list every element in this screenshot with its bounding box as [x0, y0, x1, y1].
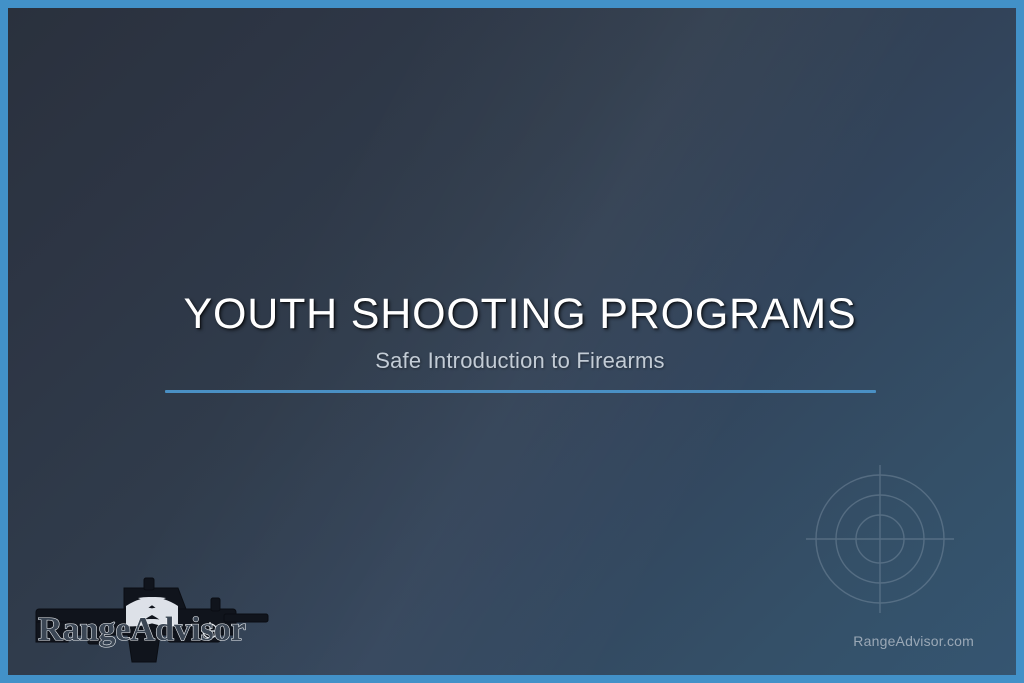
- page-subtitle: Safe Introduction to Firearms: [8, 348, 1024, 374]
- footer-url: RangeAdvisor.com: [853, 633, 974, 649]
- crosshair-target-icon: [800, 459, 960, 619]
- logo-text: RangeAdvisor: [38, 611, 246, 648]
- title-block: YOUTH SHOOTING PROGRAMS Safe Introductio…: [8, 291, 1024, 374]
- accent-divider: [165, 390, 876, 393]
- title-slide: YOUTH SHOOTING PROGRAMS Safe Introductio…: [0, 0, 1024, 683]
- logo[interactable]: RangeAdvisor: [28, 576, 273, 668]
- page-title: YOUTH SHOOTING PROGRAMS: [8, 291, 1024, 337]
